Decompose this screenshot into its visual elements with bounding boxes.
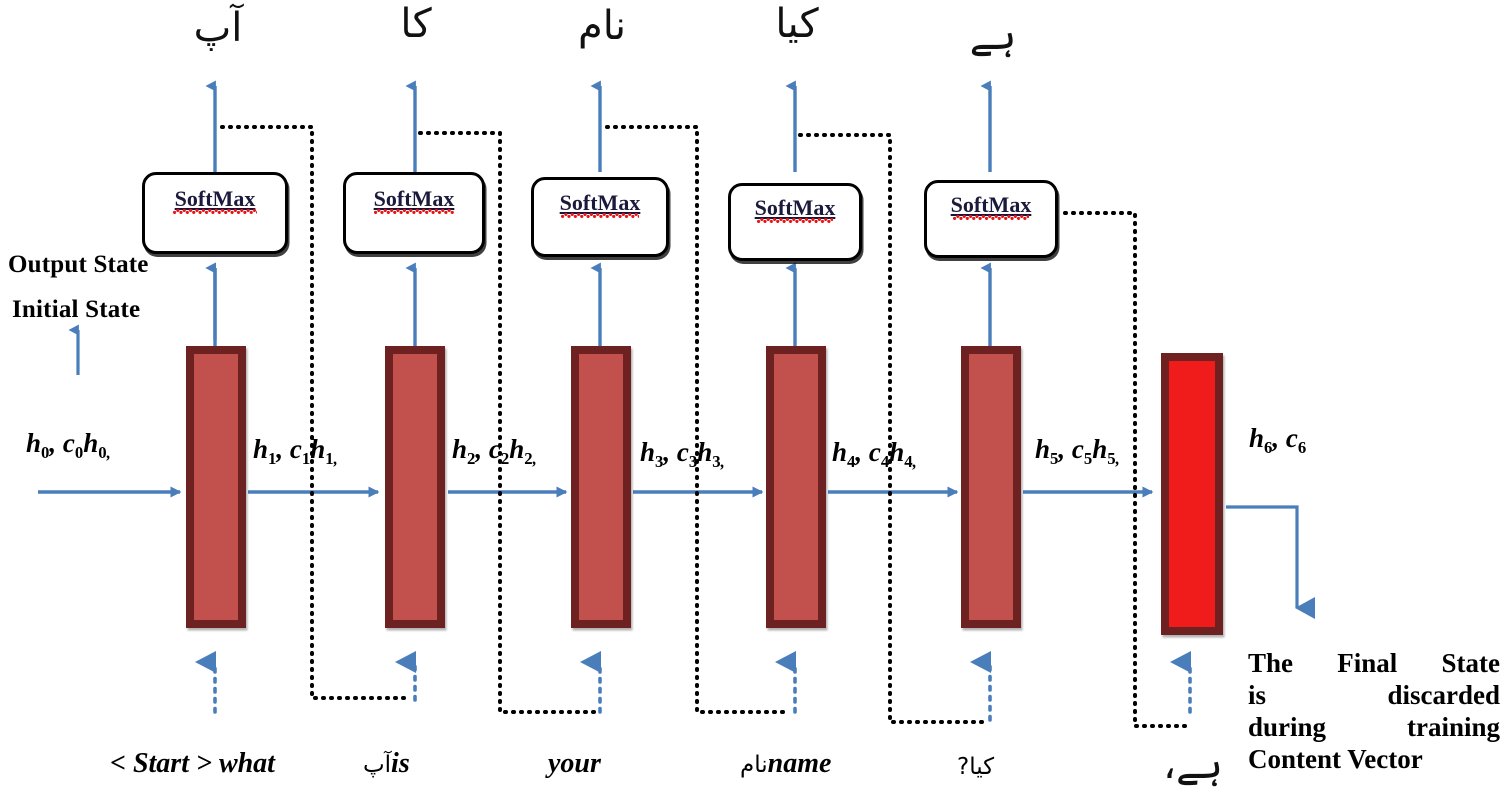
output-word-1: آپ [170,8,266,48]
softmax-box-5[interactable]: SoftMax [924,180,1058,258]
input-word-1-english: < Start > what [110,748,275,779]
input-feed-arrows [215,662,1190,720]
output-word-5: ہے [943,16,1043,56]
output-word-2: کا [368,4,464,44]
input-word-2-urdu: آپ [363,752,391,778]
lstm-cell-1[interactable] [186,346,246,628]
input-word-4-urdu: نام [740,752,768,778]
output-word-4: کیا [747,4,847,44]
diagram-canvas: SoftMax SoftMax SoftMax SoftMax SoftMax … [0,0,1500,798]
input-word-5-urdu: ?کیا [957,754,994,780]
final-note-line-3: during training [1248,712,1500,744]
input-word-3-english: your [548,748,601,779]
input-word-5: ?کیا [957,750,994,782]
softmax-box-2[interactable]: SoftMax [343,172,485,254]
final-state-note: The Final State is discarded during trai… [1248,648,1500,775]
final-note-line-2: is discarded [1248,680,1500,712]
final-note-line-4: Content Vector [1248,744,1500,776]
initial-state-label: Initial State [12,296,140,324]
state-label-6: h6, c6 [1249,423,1306,454]
state-label-3: h3, c3h3, [640,437,725,468]
state-label-2: h2, c2h2, [452,434,537,465]
state-label-5: h5, c5h5, [1035,434,1120,465]
softmax-box-3[interactable]: SoftMax [531,177,669,257]
input-word-6-urdu: ہے، [1148,742,1238,788]
spellcheck-squiggle-icon [561,213,639,218]
spellcheck-squiggle-icon [953,215,1029,220]
final-state-discard-arrow [1226,507,1297,608]
lstm-cell-2[interactable] [385,346,445,628]
final-note-line-1: The Final State [1248,648,1500,680]
lstm-cell-4[interactable] [766,346,826,628]
lstm-cell-final[interactable] [1161,353,1223,635]
state-label-4: h4, c4h4, [832,437,917,468]
input-word-2-english: is [391,748,410,779]
softmax-output-arrows [215,86,990,172]
lstm-cell-5[interactable] [961,346,1021,628]
input-word-4: نامname [740,748,831,780]
lstm-cell-3[interactable] [571,346,631,628]
input-word-4-english: name [768,748,832,779]
output-state-label: Output State [8,251,149,279]
cell-to-softmax-arrows [215,268,990,346]
state-label-1: h1, c1h1, [253,434,338,465]
spellcheck-squiggle-icon [374,209,454,214]
softmax-box-1[interactable]: SoftMax [142,172,288,254]
state-label-0: h0, c0h0, [26,428,111,459]
spellcheck-squiggle-icon [757,218,833,223]
input-word-3: your [548,748,601,780]
spellcheck-squiggle-icon [173,209,257,214]
input-word-2: آپis [363,748,410,780]
input-word-1: < Start > what [110,748,275,780]
output-word-3: نام [552,6,652,46]
softmax-box-4[interactable]: SoftMax [728,183,862,261]
